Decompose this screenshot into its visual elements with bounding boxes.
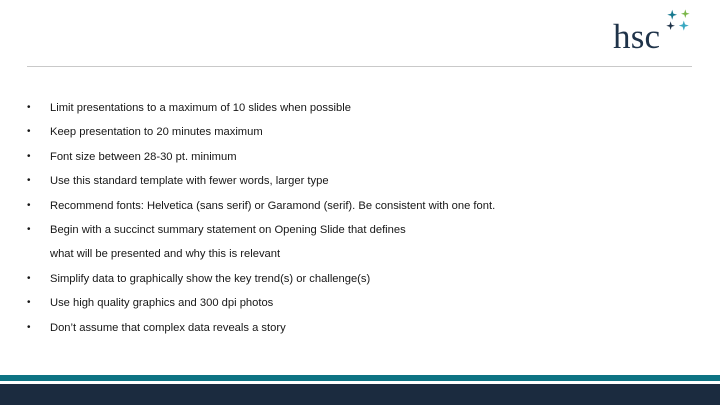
- sparkle-bottom-right-icon: [679, 21, 689, 31]
- bullet-text: Don’t assume that complex data reveals a…: [27, 316, 677, 340]
- bullet-item: •Recommend fonts: Helvetica (sans serif)…: [27, 194, 677, 218]
- bullet-marker-icon: •: [27, 218, 41, 242]
- sparkle-top-left-icon: [667, 10, 677, 20]
- bullet-text: Begin with a succinct summary statement …: [27, 218, 677, 242]
- bullet-marker-icon: •: [27, 316, 41, 340]
- footer-accent-bar-navy: [0, 384, 720, 405]
- bullet-text: Simplify data to graphically show the ke…: [27, 267, 677, 291]
- slide-canvas: hsc •Limit pr: [0, 0, 720, 405]
- logo-wordmark: hsc: [613, 19, 660, 54]
- bullet-marker-icon: •: [27, 120, 41, 144]
- bullet-text: Use high quality graphics and 300 dpi ph…: [27, 291, 677, 315]
- bullet-text: Use this standard template with fewer wo…: [27, 169, 677, 193]
- bullet-marker-icon: •: [27, 145, 41, 169]
- bullet-item: •Limit presentations to a maximum of 10 …: [27, 96, 677, 120]
- bullet-text: what will be presented and why this is r…: [27, 242, 677, 266]
- bullet-item: •Font size between 28-30 pt. minimum: [27, 145, 677, 169]
- bullet-list: •Limit presentations to a maximum of 10 …: [27, 96, 677, 340]
- sparkle-bottom-left-icon: [666, 21, 675, 30]
- bullet-item: •Keep presentation to 20 minutes maximum: [27, 120, 677, 144]
- bullet-item: •Simplify data to graphically show the k…: [27, 267, 677, 291]
- bullet-text: Recommend fonts: Helvetica (sans serif) …: [27, 194, 677, 218]
- bullet-text: Keep presentation to 20 minutes maximum: [27, 120, 677, 144]
- bullet-text: Font size between 28-30 pt. minimum: [27, 145, 677, 169]
- logo-sparkles-icon: [666, 9, 693, 36]
- bullet-item: •Don’t assume that complex data reveals …: [27, 316, 677, 340]
- bullet-item: •Use high quality graphics and 300 dpi p…: [27, 291, 677, 315]
- bullet-item: •Use this standard template with fewer w…: [27, 169, 677, 193]
- bullet-marker-icon: •: [27, 169, 41, 193]
- sparkle-top-right-icon: [681, 9, 690, 18]
- footer-accent-bar-teal: [0, 375, 720, 381]
- hsc-logo: hsc: [613, 9, 693, 53]
- header-divider: [27, 66, 692, 67]
- bullet-text: Limit presentations to a maximum of 10 s…: [27, 96, 677, 120]
- slide-header: hsc: [0, 0, 720, 68]
- bullet-marker-icon: •: [27, 267, 41, 291]
- bullet-item: •Begin with a succinct summary statement…: [27, 218, 677, 242]
- bullet-marker-icon: •: [27, 96, 41, 120]
- bullet-marker-icon: •: [27, 194, 41, 218]
- bullet-continuation-line: •what will be presented and why this is …: [27, 242, 677, 266]
- bullet-marker-icon: •: [27, 291, 41, 315]
